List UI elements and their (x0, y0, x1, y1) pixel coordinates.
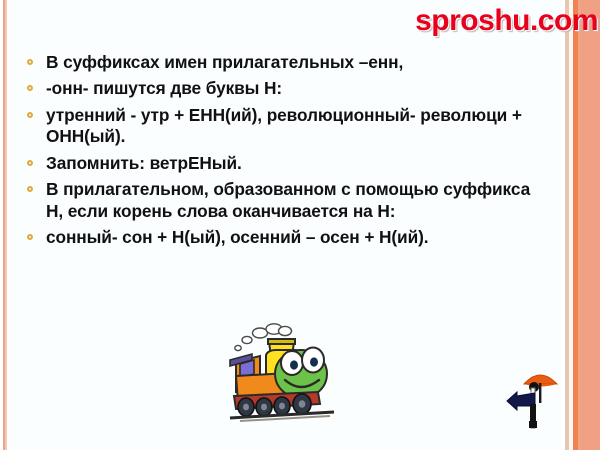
list-item: утренний - утр + ЕНН(ий), революционный-… (26, 105, 531, 148)
right-border-band-light-salmon (578, 0, 581, 450)
list-item: сонный- сон + Н(ый), осенний – осен + Н(… (26, 227, 531, 248)
left-border-band-salmon (3, 0, 5, 450)
list-item-text: Запомнить: ветрЕНый. (46, 153, 531, 174)
list-item-text: -онн- пишутся две буквы Н: (46, 78, 531, 99)
bullet-ring-icon (27, 59, 33, 65)
left-border-band-white-inner (7, 0, 10, 450)
list-item-text: В прилагательном, образованном с помощью… (46, 179, 531, 222)
bullet-ring-icon (27, 160, 33, 166)
list-item: Запомнить: ветрЕНый. (26, 153, 531, 174)
right-border-band-tan (565, 0, 569, 450)
cartoon-train-image (222, 322, 350, 426)
left-border-band-white (0, 0, 3, 450)
right-border-band-salmon (581, 0, 600, 450)
list-item: В суффиксах имен прилагательных –енн, (26, 52, 531, 73)
list-item-text: сонный- сон + Н(ый), осенний – осен + Н(… (46, 227, 531, 248)
bullet-ring-icon (27, 234, 33, 240)
site-watermark: sproshu.com (415, 4, 598, 38)
bullet-list: В суффиксах имен прилагательных –енн, -о… (26, 52, 531, 254)
list-item: В прилагательном, образованном с помощью… (26, 179, 531, 222)
bullet-ring-icon (27, 85, 33, 91)
right-border-band-cream (569, 0, 573, 450)
right-border-band-orange (573, 0, 578, 450)
slide-canvas: sproshu.com В суффиксах имен прилагатель… (0, 0, 600, 450)
bullet-ring-icon (27, 112, 33, 118)
list-item-text: утренний - утр + ЕНН(ий), революционный-… (46, 105, 531, 148)
list-item-text: В суффиксах имен прилагательных –енн, (46, 52, 531, 73)
umbrella-signpost-image (503, 364, 565, 430)
left-border-band-pale (5, 0, 7, 450)
bullet-ring-icon (27, 186, 33, 192)
list-item: -онн- пишутся две буквы Н: (26, 78, 531, 99)
